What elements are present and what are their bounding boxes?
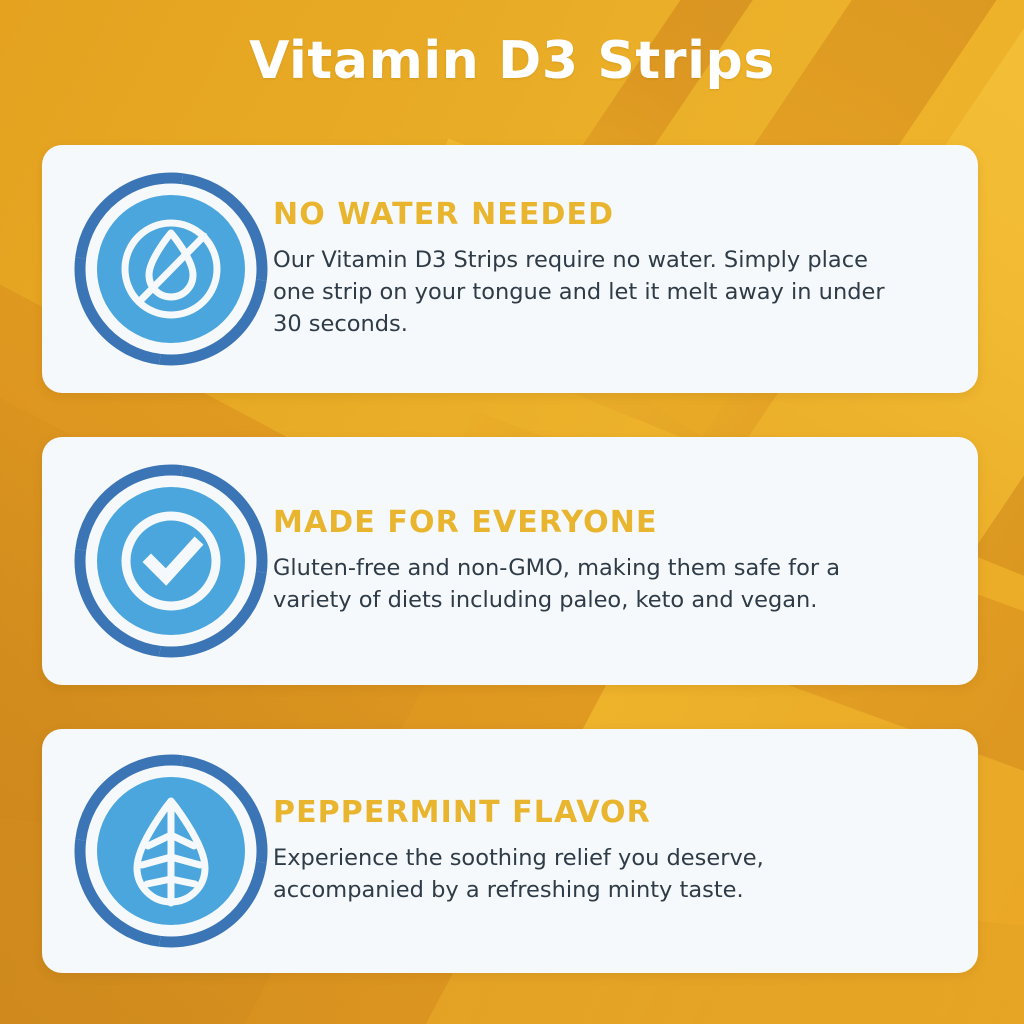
check-circle-icon (71, 461, 271, 661)
feature-card: PEPPERMINT FLAVOR Experience the soothin… (42, 729, 978, 973)
page-title: Vitamin D3 Strips (0, 32, 1024, 92)
card-text: Our Vitamin D3 Strips require no water. … (273, 245, 913, 341)
card-heading: MADE FOR EVERYONE (273, 505, 940, 540)
feature-card: MADE FOR EVERYONE Gluten-free and non-GM… (42, 437, 978, 685)
feature-card-list: NO WATER NEEDED Our Vitamin D3 Strips re… (42, 145, 978, 973)
card-text: Gluten-free and non-GMO, making them saf… (273, 553, 913, 617)
icon-wrapper (68, 461, 273, 661)
card-heading: NO WATER NEEDED (273, 197, 940, 232)
icon-wrapper (68, 169, 273, 369)
card-text: Experience the soothing relief you deser… (273, 843, 913, 907)
icon-wrapper (68, 751, 273, 951)
feature-card: NO WATER NEEDED Our Vitamin D3 Strips re… (42, 145, 978, 393)
card-body: PEPPERMINT FLAVOR Experience the soothin… (273, 795, 948, 907)
card-body: NO WATER NEEDED Our Vitamin D3 Strips re… (273, 197, 948, 341)
card-body: MADE FOR EVERYONE Gluten-free and non-GM… (273, 505, 948, 617)
no-water-drop-icon (71, 169, 271, 369)
infographic-poster: Vitamin D3 Strips NO (0, 0, 1024, 1024)
leaf-icon (71, 751, 271, 951)
card-heading: PEPPERMINT FLAVOR (273, 795, 940, 830)
